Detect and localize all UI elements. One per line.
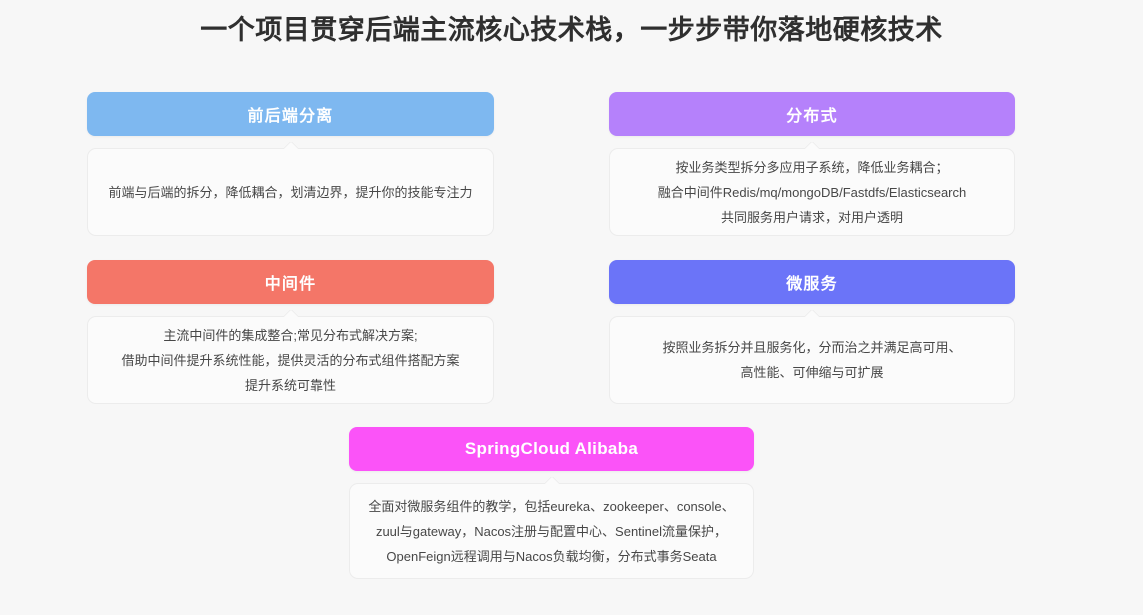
card-body-line: 借助中间件提升系统性能，提供灵活的分布式组件搭配方案 <box>121 348 459 373</box>
card-body-wrapper: 按照业务拆分并且服务化，分而治之并满足高可用、 高性能、可伸缩与可扩展 <box>609 316 1015 404</box>
card-body-wrapper: 按业务类型拆分多应用子系统，降低业务耦合； 融合中间件Redis/mq/mong… <box>609 148 1015 236</box>
card-body-line: 全面对微服务组件的教学，包括eureka、zookeeper、console、 <box>368 494 734 519</box>
card-body-middleware: 主流中间件的集成整合;常见分布式解决方案; 借助中间件提升系统性能，提供灵活的分… <box>87 316 494 404</box>
connector-arrow-icon <box>805 310 819 318</box>
card-body-wrapper: 前端与后端的拆分，降低耦合，划清边界，提升你的技能专注力 <box>87 148 494 236</box>
page-title: 一个项目贯穿后端主流核心技术栈，一步步带你落地硬核技术 <box>0 11 1143 49</box>
card-body-wrapper: 全面对微服务组件的教学，包括eureka、zookeeper、console、 … <box>349 483 754 579</box>
card-header-middleware[interactable]: 中间件 <box>87 260 494 304</box>
card-body-line: zuul与gateway，Nacos注册与配置中心、Sentinel流量保护， <box>376 519 727 544</box>
card-body-microservices: 按照业务拆分并且服务化，分而治之并满足高可用、 高性能、可伸缩与可扩展 <box>609 316 1015 404</box>
connector-arrow-icon <box>545 477 559 485</box>
card-header-frontend-backend-separation[interactable]: 前后端分离 <box>87 92 494 136</box>
card-body-wrapper: 主流中间件的集成整合;常见分布式解决方案; 借助中间件提升系统性能，提供灵活的分… <box>87 316 494 404</box>
card-header-microservices[interactable]: 微服务 <box>609 260 1015 304</box>
card-distributed: 分布式 按业务类型拆分多应用子系统，降低业务耦合； 融合中间件Redis/mq/… <box>609 92 1015 236</box>
card-middleware: 中间件 主流中间件的集成整合;常见分布式解决方案; 借助中间件提升系统性能，提供… <box>87 260 494 404</box>
card-body-frontend-backend-separation: 前端与后端的拆分，降低耦合，划清边界，提升你的技能专注力 <box>87 148 494 236</box>
card-body-distributed: 按业务类型拆分多应用子系统，降低业务耦合； 融合中间件Redis/mq/mong… <box>609 148 1015 236</box>
card-microservices: 微服务 按照业务拆分并且服务化，分而治之并满足高可用、 高性能、可伸缩与可扩展 <box>609 260 1015 404</box>
card-body-line: 高性能、可伸缩与可扩展 <box>740 360 883 385</box>
card-header-distributed[interactable]: 分布式 <box>609 92 1015 136</box>
card-body-line: 提升系统可靠性 <box>245 373 336 398</box>
connector-arrow-icon <box>805 142 819 150</box>
card-body-line: 按照业务拆分并且服务化，分而治之并满足高可用、 <box>662 335 961 360</box>
card-body-line: OpenFeign远程调用与Nacos负载均衡，分布式事务Seata <box>386 544 716 569</box>
card-body-line: 按业务类型拆分多应用子系统，降低业务耦合； <box>675 155 948 180</box>
card-springcloud-alibaba: SpringCloud Alibaba 全面对微服务组件的教学，包括eureka… <box>349 427 754 579</box>
card-body-line: 共同服务用户请求，对用户透明 <box>721 205 903 230</box>
slide-canvas: 一个项目贯穿后端主流核心技术栈，一步步带你落地硬核技术 前后端分离 前端与后端的… <box>0 0 1143 615</box>
card-body-line: 主流中间件的集成整合;常见分布式解决方案; <box>163 323 417 348</box>
card-body-line: 融合中间件Redis/mq/mongoDB/Fastdfs/Elasticsea… <box>658 180 966 205</box>
card-body-springcloud-alibaba: 全面对微服务组件的教学，包括eureka、zookeeper、console、 … <box>349 483 754 579</box>
card-header-springcloud-alibaba[interactable]: SpringCloud Alibaba <box>349 427 754 471</box>
card-body-line: 前端与后端的拆分，降低耦合，划清边界，提升你的技能专注力 <box>108 180 472 205</box>
connector-arrow-icon <box>284 142 298 150</box>
card-frontend-backend-separation: 前后端分离 前端与后端的拆分，降低耦合，划清边界，提升你的技能专注力 <box>87 92 494 236</box>
connector-arrow-icon <box>284 310 298 318</box>
